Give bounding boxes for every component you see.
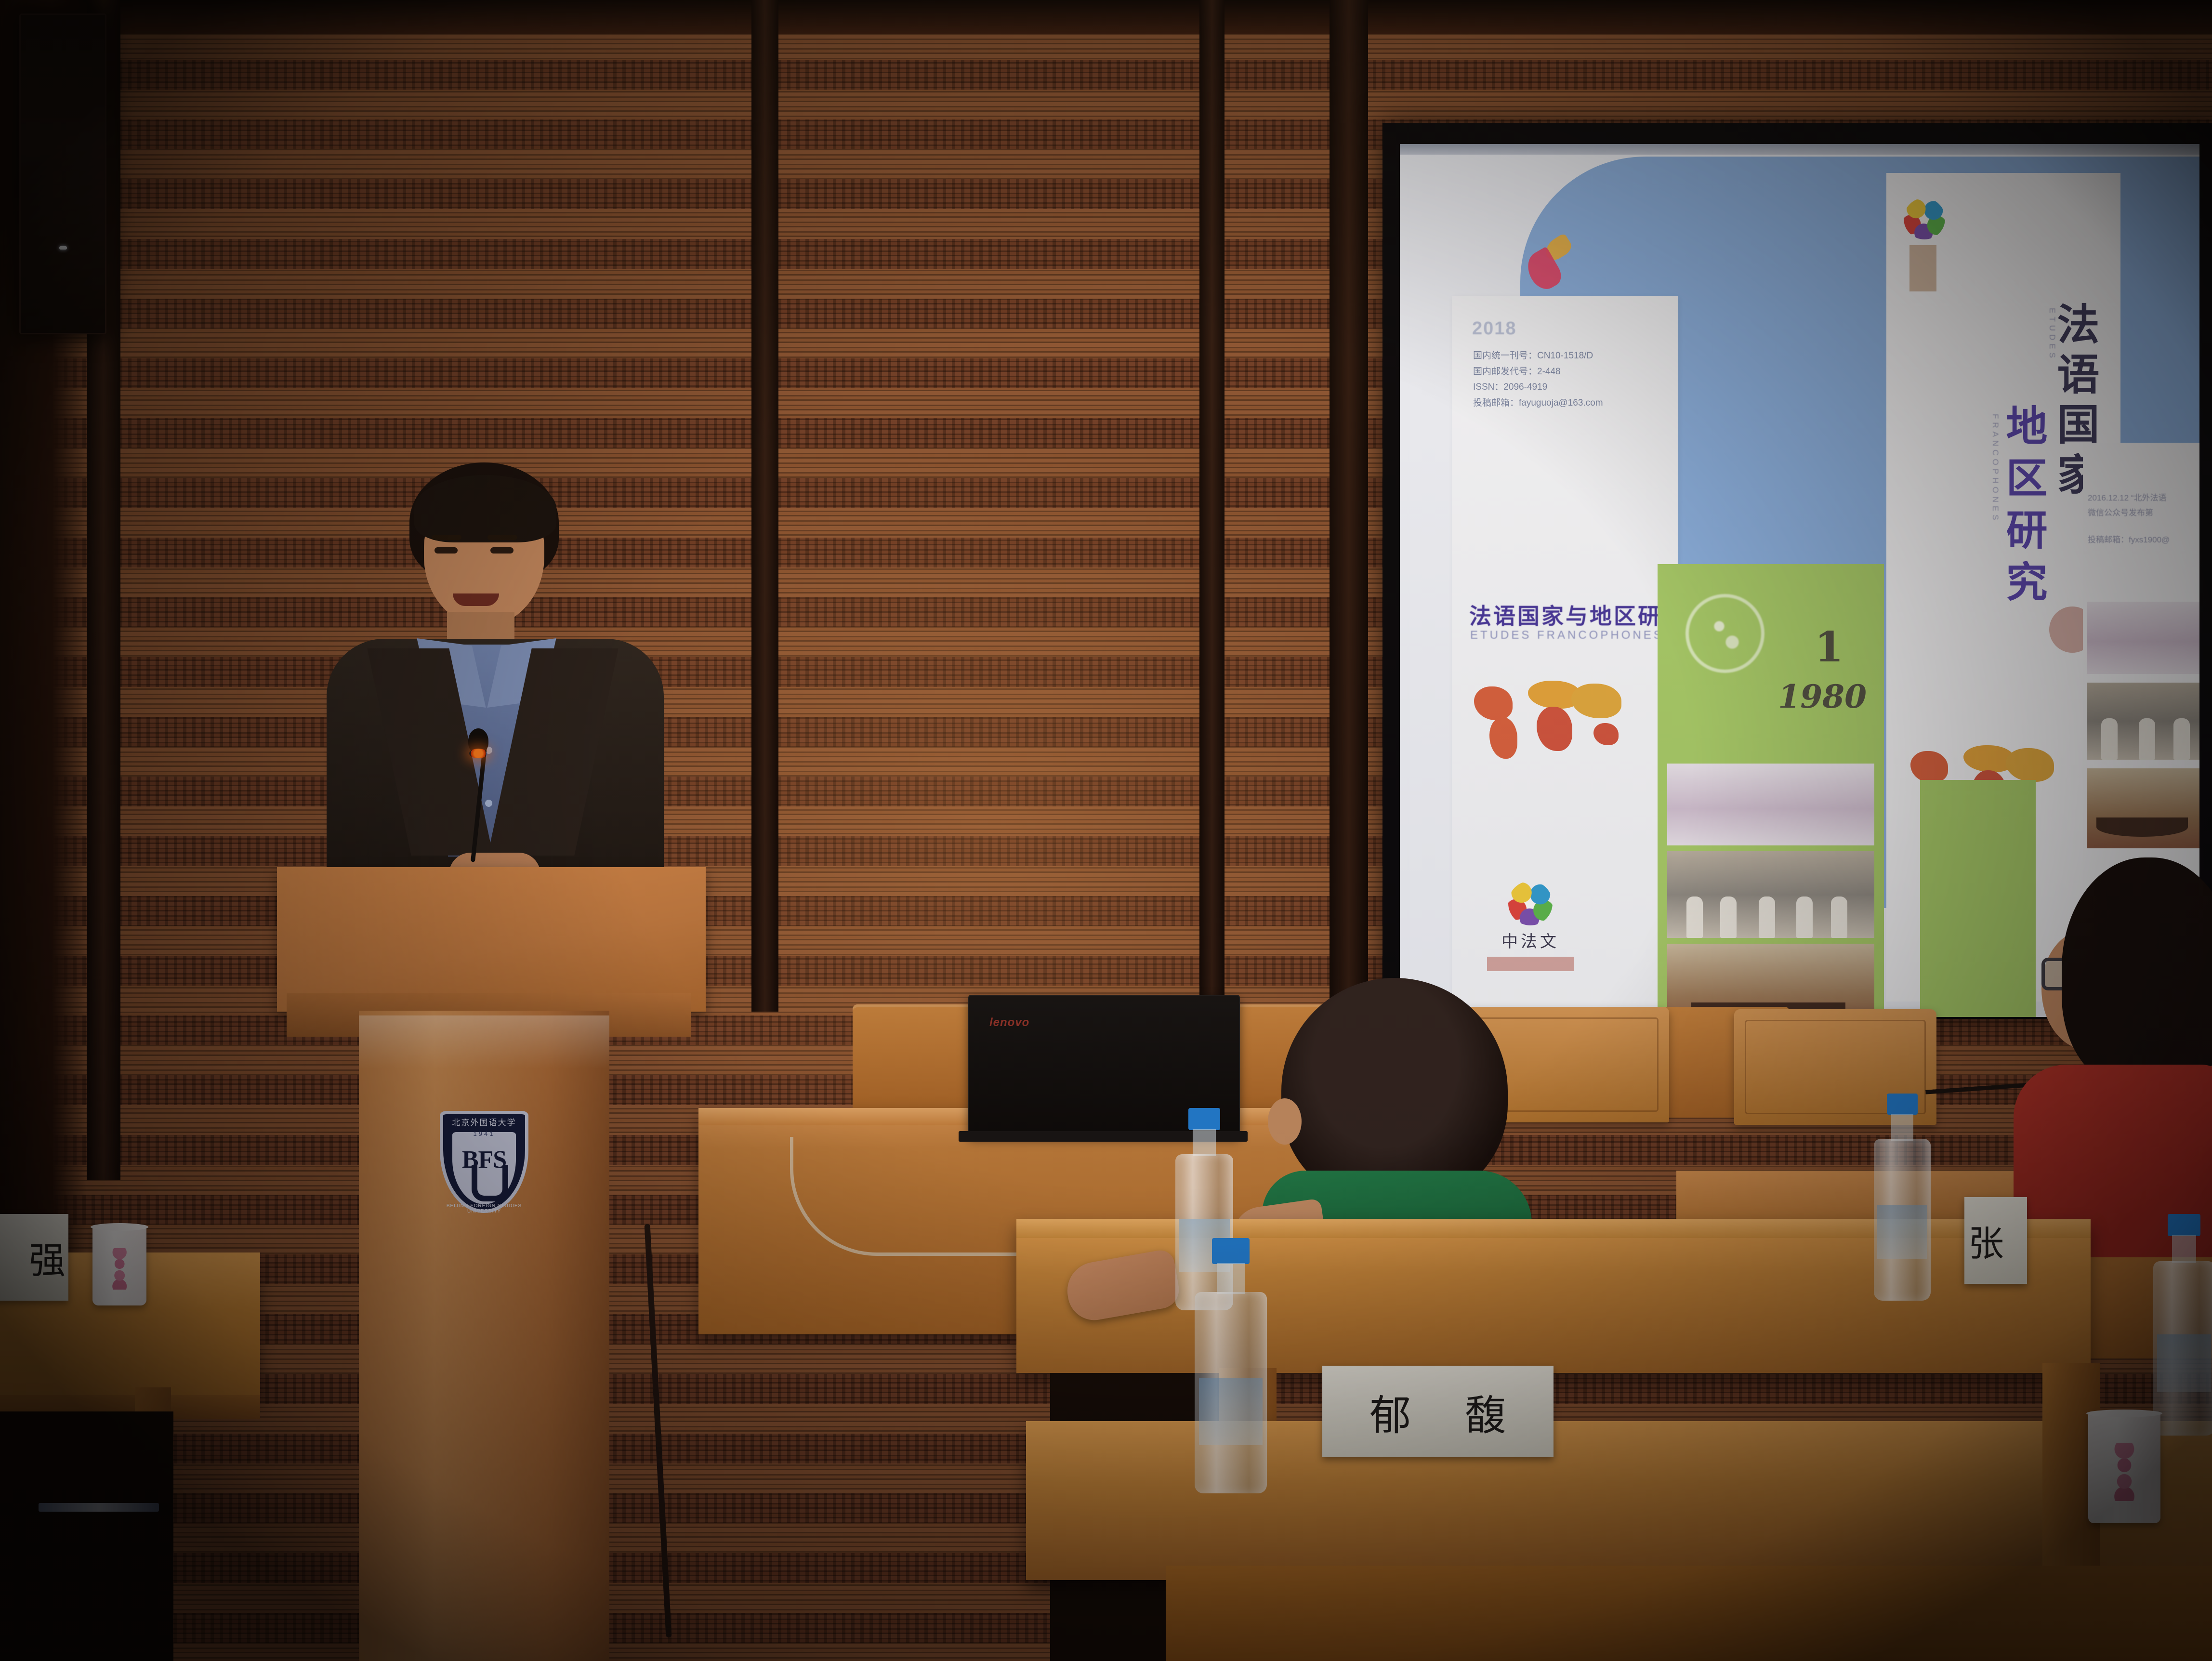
audience-member-red [2004, 857, 2212, 1252]
slide-dateline: 2016.12.12 “北外法语 微信公众号发布第 投稿邮箱：fyxs1900@ [2088, 491, 2199, 548]
cup-floral-pattern [111, 1248, 128, 1290]
francophonie-flower-icon [1508, 881, 1553, 925]
podium-highlight [359, 1015, 609, 1068]
under-table-shadow-left [0, 1411, 173, 1661]
journal-stamp [1909, 245, 1936, 291]
water-bottle-2[interactable] [1195, 1238, 1267, 1493]
journal-meta-line: 国内统一刊号：CN10-1518/D [1473, 348, 1666, 364]
speaker-led-indicator [59, 246, 67, 250]
speaker-person [270, 453, 703, 886]
journal-photo-thumb [1667, 851, 1874, 938]
speaker-eye-right [490, 547, 513, 554]
journal-meta-line: ISSN：2096-4919 [1473, 380, 1666, 395]
francophonie-flower-logo [1904, 198, 1945, 239]
journal-year: 2018 [1472, 318, 1517, 339]
slide-dateline-row: 投稿邮箱：fyxs1900@ [2088, 533, 2199, 548]
wall-mullion-4 [1330, 0, 1368, 1021]
slide-dateline-row: 2016.12.12 “北外法语 [2088, 491, 2199, 506]
journal-meta-line: 投稿邮箱：fayuguoja@163.com [1473, 395, 1666, 411]
journal-photo-thumb [2087, 768, 2199, 848]
audience-ear [1268, 1098, 1302, 1145]
wall-speaker [19, 13, 106, 334]
laptop-brand-label: lenovo [989, 1016, 1029, 1029]
podium-column: 北京外国语大学 1941 BFS BEIJING FOREIGN STUDIES… [359, 1011, 609, 1661]
slide-toolbar-strip [1400, 144, 2199, 155]
journal-title-vertical-2: 地区研究 [1993, 404, 2053, 612]
cup-floral-pattern [2114, 1443, 2135, 1501]
paper-cup-right[interactable] [2088, 1412, 2160, 1523]
journal-meta-block: 国内统一刊号：CN10-1518/D 国内邮发代号：2-448 ISSN：209… [1473, 348, 1666, 411]
journal-photo-thumb [1667, 764, 1874, 845]
journal-photo-thumb [2087, 683, 2199, 760]
journal-french-title: ETUDES FRANCOPHONES [1470, 629, 1677, 642]
wall-mullion-2 [751, 0, 778, 1012]
crest-founded-year: 1941 [440, 1130, 528, 1137]
name-placard-center: 郁 馥 [1322, 1366, 1554, 1457]
slide-dateline-row: 微信公众号发布第 [2088, 506, 2199, 521]
speaker-eye-left [434, 547, 458, 554]
zhongfa-label: 中法文 [1470, 928, 1591, 952]
journal-photo-thumb [1667, 944, 1874, 1017]
journal-chinese-title: 法语国家与地区研究 [1469, 599, 1676, 631]
speaker-hair-front [414, 475, 556, 542]
journal-meta-line: 国内邮发代号：2-448 [1473, 364, 1666, 380]
wall-mullion-3 [1199, 0, 1224, 1002]
water-bottle-4[interactable] [2153, 1214, 2212, 1436]
university-crest: 北京外国语大学 1941 BFS BEIJING FOREIGN STUDIES… [440, 1111, 528, 1213]
speaker-mouth [453, 593, 499, 606]
foreground-table-bottom [1166, 1566, 2212, 1661]
name-placard-left: 强 [0, 1214, 68, 1301]
shirt-button [485, 800, 492, 807]
zhongfa-bar [1487, 957, 1574, 971]
cup-rim [91, 1223, 148, 1231]
lecture-hall-photo: 2018 国内统一刊号：CN10-1518/D 国内邮发代号：2-448 ISS… [0, 0, 2212, 1661]
audience-hair [2062, 857, 2212, 1089]
water-bottle-3[interactable] [1874, 1094, 1931, 1301]
journal-cover-green: 1 1980 [1658, 564, 1884, 1017]
crest-chinese-name: 北京外国语大学 [440, 1116, 528, 1128]
microphone-status-led [469, 749, 487, 758]
device-light-strip [39, 1503, 159, 1512]
crest-english-name: BEIJING FOREIGN STUDIES UNIVERSITY [440, 1203, 528, 1214]
crest-u-mark [472, 1165, 508, 1201]
journal-seal-graphic [1685, 594, 1764, 673]
journal-issue-number: 1 [1815, 623, 1843, 672]
cup-rim [2086, 1410, 2162, 1417]
name-placard-right: 张 [1964, 1197, 2027, 1284]
speaker-eyebrow-left [432, 535, 461, 540]
world-map-graphic [1469, 677, 1628, 764]
speaker-eyebrow-right [487, 535, 517, 540]
paper-cup-left[interactable] [92, 1226, 146, 1305]
zhongfa-badge: 中法文 [1470, 881, 1591, 971]
podium-desktop [277, 867, 706, 1012]
journal-photo-thumb [2087, 602, 2199, 674]
journal-issue-year: 1980 [1778, 678, 1867, 715]
